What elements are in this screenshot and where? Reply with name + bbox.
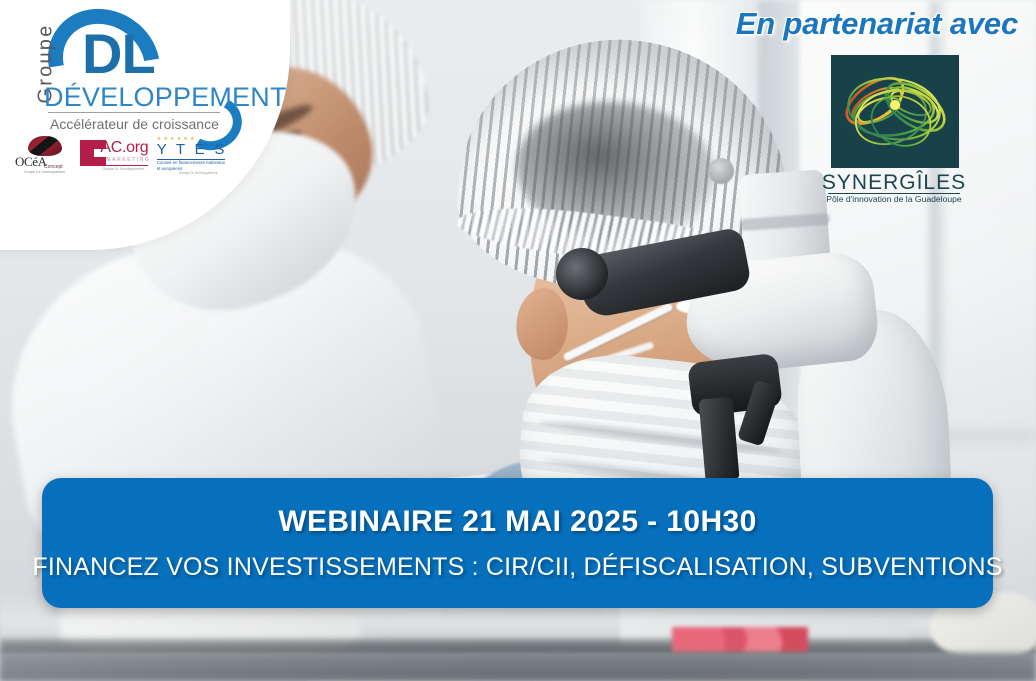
microscope-objective-lens: [698, 397, 739, 482]
partner-heading: En partenariat avec: [736, 6, 1018, 42]
ocea-logo: OCéA Concept Groupe DL Développement: [12, 136, 77, 176]
subsidiary-logos-row: OCéA Concept Groupe DL Développement AC.…: [12, 136, 228, 176]
webinar-banner: WEBINAIRE 21 MAI 2025 - 10H30 FINANCEZ V…: [42, 478, 993, 608]
synergiles-loops-icon: [831, 55, 959, 168]
dl-initials: DL: [82, 26, 155, 82]
synergiles-name: SYNERGÎLES: [818, 171, 970, 195]
ytes-logo-footer: Groupe DL Développement: [179, 171, 218, 175]
ytes-logo: ★ ★ ★ ★ ★ ★ Y T E S Conseil en financeme…: [155, 136, 228, 176]
ocea-sphere-icon: [28, 136, 62, 156]
webinar-promo-poster: Groupe DL DÉVELOPPEMENT Accélérateur de …: [0, 0, 1036, 681]
acorg-logo-footer: Groupe DL Développement: [102, 167, 143, 171]
dl-tagline: Accélérateur de croissance: [50, 116, 219, 132]
ocea-logo-name: OCéA: [15, 154, 47, 170]
ytes-logo-name: Y T E S: [157, 141, 227, 158]
ytes-logo-sub: Conseil en financements nationaux et eur…: [157, 160, 227, 171]
bench-base-shadow: [0, 653, 1036, 681]
acorg-logo-name: AC.org: [100, 139, 148, 157]
dl-company-name: DÉVELOPPEMENT: [44, 82, 287, 113]
bench-red-samples: [672, 627, 808, 653]
acorg-divider-rule: [100, 165, 148, 166]
synergiles-logo: SYNERGÎLES Pôle d'innovation de la Guade…: [818, 55, 970, 213]
webinar-title: WEBINAIRE 21 MAI 2025 - 10H30: [278, 505, 756, 539]
acorg-logo-sub: MARKETING: [106, 157, 150, 163]
webinar-subtitle: FINANCEZ VOS INVESTISSEMENTS : CIR/CII, …: [32, 553, 1002, 582]
dl-divider-rule: [48, 112, 220, 113]
acorg-logo: AC.org MARKETING Groupe DL Développement: [80, 136, 151, 176]
synergiles-loops-svg: [831, 55, 959, 168]
synergiles-tagline: Pôle d'innovation de la Guadeloupe: [818, 194, 970, 204]
microscope-screw: [708, 158, 734, 184]
ocea-logo-footer: Groupe DL Développement: [24, 170, 65, 174]
